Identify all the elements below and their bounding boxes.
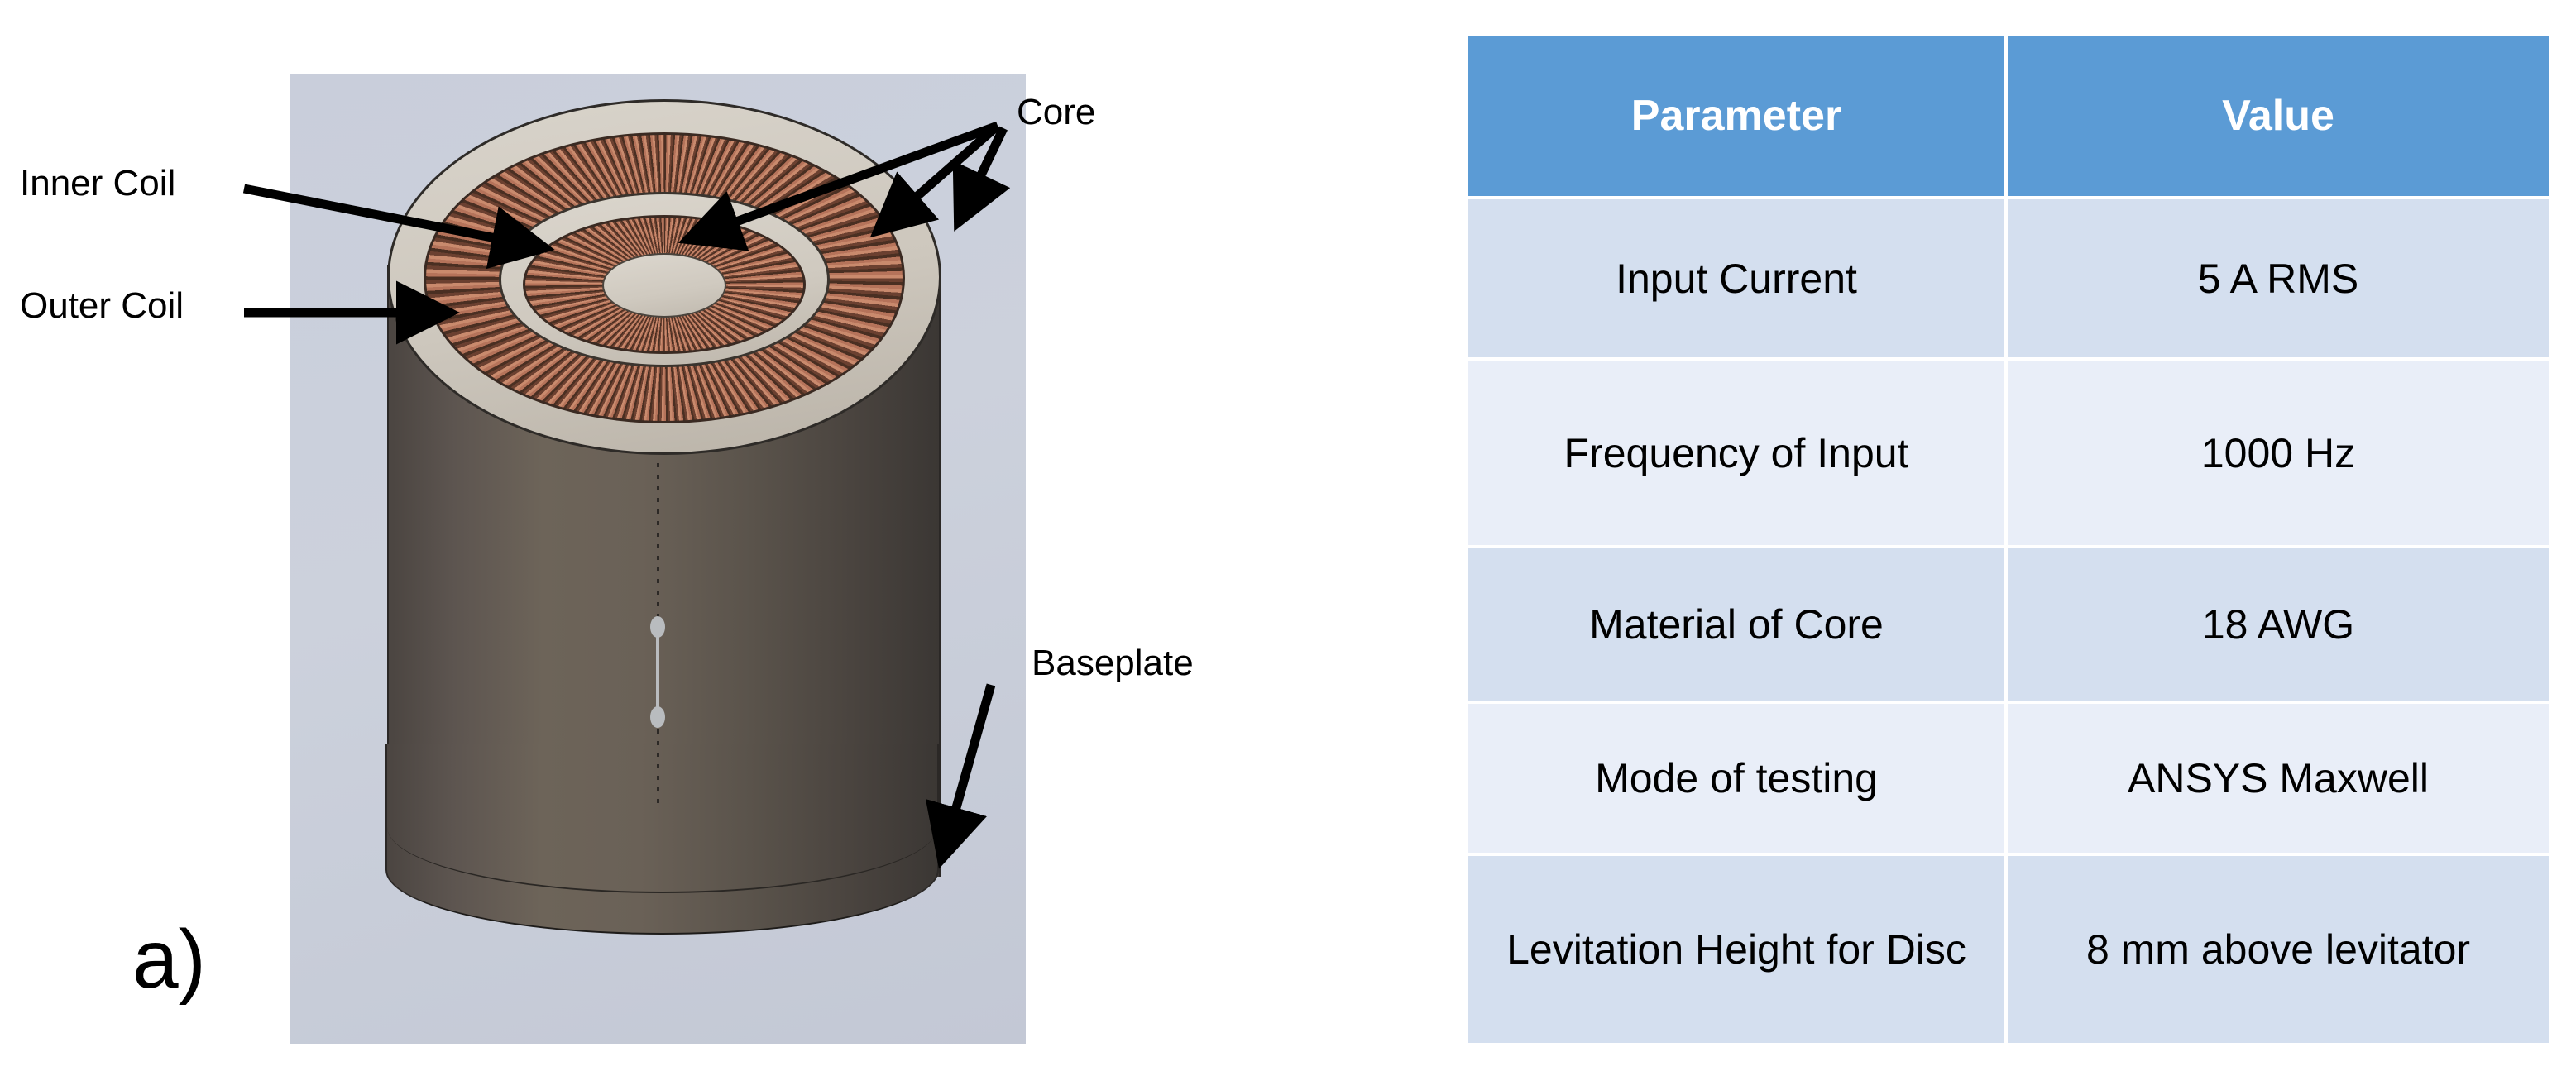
table-header-row: Parameter Value xyxy=(1468,36,2549,196)
cell-parameter: Levitation Height for Disc xyxy=(1468,856,2004,1043)
table-row: Material of Core 18 AWG xyxy=(1468,548,2549,701)
cell-value: 5 A RMS xyxy=(2008,199,2549,357)
parameters-table: Parameter Value Input Current 5 A RMS Fr… xyxy=(1465,33,2552,1046)
panel-letter-a: a) xyxy=(132,918,206,1001)
cell-value: 8 mm above levitator xyxy=(2008,856,2549,1043)
callout-label-core: Core xyxy=(1017,94,1095,131)
cell-value: 18 AWG xyxy=(2008,548,2549,701)
callout-label-outer-coil: Outer Coil xyxy=(20,288,184,324)
table-row: Levitation Height for Disc 8 mm above le… xyxy=(1468,856,2549,1043)
axis-stem xyxy=(656,633,659,712)
callout-label-inner-coil: Inner Coil xyxy=(20,165,175,202)
cell-value: ANSYS Maxwell xyxy=(2008,704,2549,853)
cell-parameter: Material of Core xyxy=(1468,548,2004,701)
table-row: Frequency of Input 1000 Hz xyxy=(1468,361,2549,545)
levitator-baseplate-rim xyxy=(387,728,937,893)
coil-assembly-top-face xyxy=(387,99,941,455)
axis-marker-glyph xyxy=(650,616,665,728)
table-row: Input Current 5 A RMS xyxy=(1468,199,2549,357)
cell-parameter: Mode of testing xyxy=(1468,704,2004,853)
column-header-value: Value xyxy=(2008,36,2549,196)
callout-label-baseplate: Baseplate xyxy=(1032,645,1194,681)
table-row: Mode of testing ANSYS Maxwell xyxy=(1468,704,2549,853)
core-centre-disc xyxy=(602,253,726,318)
axis-knob-bottom xyxy=(650,706,665,728)
figure-panel-a: Inner Coil Outer Coil Core Baseplate a) xyxy=(0,0,1290,1076)
cell-parameter: Frequency of Input xyxy=(1468,361,2004,545)
column-header-parameter: Parameter xyxy=(1468,36,2004,196)
cell-value: 1000 Hz xyxy=(2008,361,2549,545)
figure-panel-b: Parameter Value Input Current 5 A RMS Fr… xyxy=(1290,0,2576,1076)
cell-parameter: Input Current xyxy=(1468,199,2004,357)
